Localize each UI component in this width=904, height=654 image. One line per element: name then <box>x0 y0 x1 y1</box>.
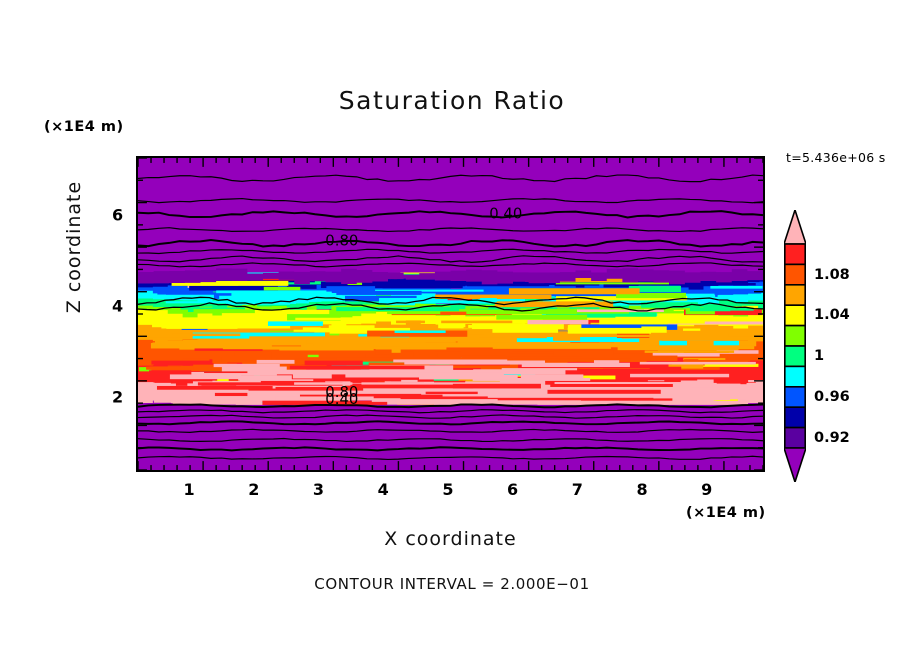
x-tick-label: 8 <box>636 480 647 499</box>
y-axis-title: Z coordinate <box>63 167 85 327</box>
y-axis-unit-label: (×1E4 m) <box>44 119 124 135</box>
time-annotation: t=5.436e+06 s <box>786 150 886 165</box>
contour-interval-note: CONTOUR INTERVAL = 2.000E−01 <box>0 575 904 593</box>
x-tick-label: 4 <box>378 480 389 499</box>
colorbar-tick-label: 1.04 <box>814 307 850 323</box>
colorbar-tick-label: 1 <box>814 348 824 364</box>
x-tick-label: 6 <box>507 480 518 499</box>
x-axis-title: X coordinate <box>136 528 765 550</box>
x-tick-label: 5 <box>442 480 453 499</box>
contour-plot-panel[interactable]: 0.400.800.800.40 <box>136 156 765 472</box>
svg-text:0.40: 0.40 <box>325 390 358 408</box>
svg-text:0.40: 0.40 <box>489 205 522 223</box>
y-tick-label: 6 <box>112 206 123 225</box>
colorbar[interactable] <box>784 210 806 482</box>
page-title: Saturation Ratio <box>0 86 904 115</box>
x-tick-label: 9 <box>701 480 712 499</box>
svg-text:0.80: 0.80 <box>325 232 358 250</box>
x-tick-label: 2 <box>248 480 259 499</box>
x-tick-label: 3 <box>313 480 324 499</box>
y-tick-label: 4 <box>112 297 123 316</box>
colorbar-tick-label: 0.92 <box>814 430 850 446</box>
x-tick-label: 7 <box>572 480 583 499</box>
x-tick-label: 1 <box>183 480 194 499</box>
y-tick-label: 2 <box>112 387 123 406</box>
x-axis-unit-label: (×1E4 m) <box>686 505 766 521</box>
contour-field: 0.400.800.800.40 <box>138 158 763 470</box>
colorbar-tick-label: 0.96 <box>814 389 850 405</box>
colorbar-tick-label: 1.08 <box>814 267 850 283</box>
